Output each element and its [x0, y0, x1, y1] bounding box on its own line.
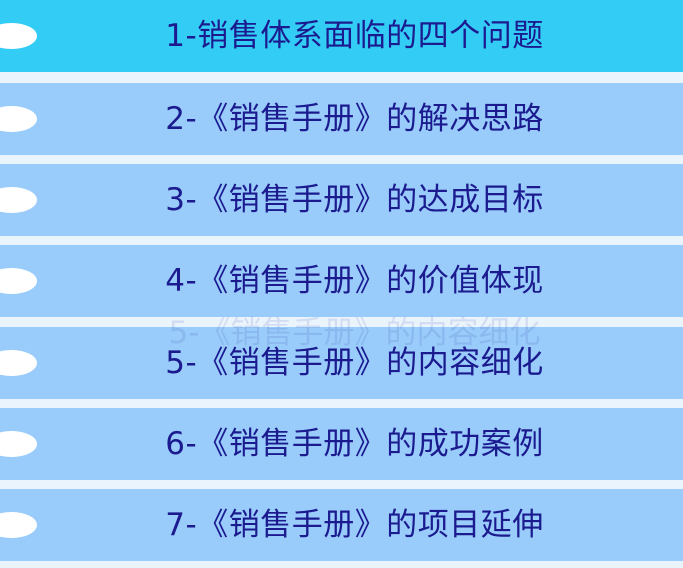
ellipse-bullet-icon [0, 431, 37, 457]
ellipse-bullet-icon [0, 187, 37, 213]
agenda-item-3[interactable]: 3-《销售手册》的达成目标 [0, 164, 683, 236]
agenda-item-7[interactable]: 7-《销售手册》的项目延伸 [0, 489, 683, 561]
agenda-item-label: 3-《销售手册》的达成目标 [139, 185, 543, 216]
agenda-item-label: 2-《销售手册》的解决思路 [139, 104, 543, 135]
agenda-slide: 5-《销售手册》的内容细化 1-销售体系面临的四个问题 2-《销售手册》的解决思… [0, 0, 683, 568]
agenda-item-2[interactable]: 2-《销售手册》的解决思路 [0, 83, 683, 155]
ellipse-bullet-icon [0, 512, 37, 538]
agenda-item-label: 1-销售体系面临的四个问题 [139, 21, 543, 52]
ellipse-bullet-icon [0, 23, 37, 49]
agenda-item-label: 6-《销售手册》的成功案例 [139, 429, 543, 460]
agenda-item-label: 7-《销售手册》的项目延伸 [139, 510, 543, 541]
ellipse-bullet-icon [0, 350, 37, 376]
agenda-item-4[interactable]: 4-《销售手册》的价值体现 [0, 245, 683, 317]
agenda-item-1[interactable]: 1-销售体系面临的四个问题 [0, 0, 683, 72]
ellipse-bullet-icon [0, 268, 37, 294]
agenda-item-6[interactable]: 6-《销售手册》的成功案例 [0, 408, 683, 480]
agenda-item-label: 5-《销售手册》的内容细化 [139, 348, 543, 379]
agenda-item-label: 4-《销售手册》的价值体现 [139, 266, 543, 297]
agenda-item-5[interactable]: 5-《销售手册》的内容细化 [0, 327, 683, 399]
ellipse-bullet-icon [0, 106, 37, 132]
